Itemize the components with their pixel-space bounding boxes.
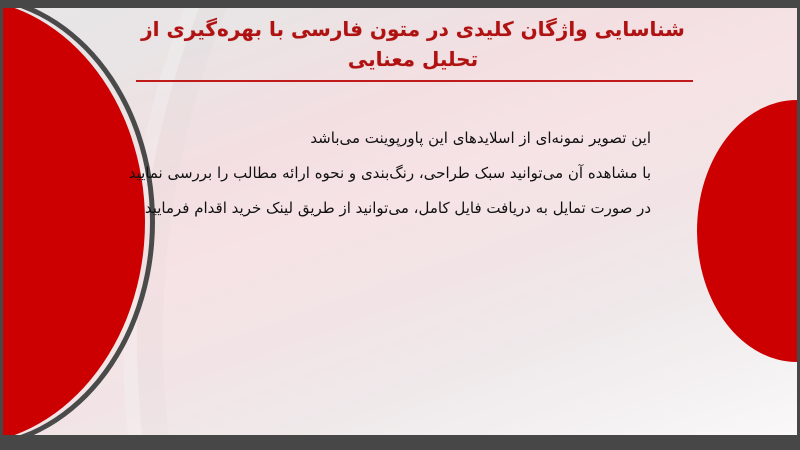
- slide-title-line-2: تحلیل معنایی: [123, 44, 703, 74]
- slide-body-text: این تصویر نمونه‌ای از اسلایدهای این پاور…: [111, 121, 651, 226]
- body-line-3: در صورت تمایل به دریافت فایل کامل، می‌تو…: [111, 191, 651, 226]
- slide-title: شناسایی واژگان کلیدی در متون فارسی با به…: [123, 14, 703, 74]
- slide-title-line-1: شناسایی واژگان کلیدی در متون فارسی با به…: [123, 14, 703, 44]
- presentation-slide: شناسایی واژگان کلیدی در متون فارسی با به…: [0, 0, 800, 450]
- red-oval-right: [697, 100, 797, 362]
- title-underline: [136, 80, 693, 82]
- body-line-2: با مشاهده آن می‌توانید سبک طراحی، رنگ‌بن…: [111, 156, 651, 191]
- slide-canvas: شناسایی واژگان کلیدی در متون فارسی با به…: [3, 8, 797, 435]
- body-line-1: این تصویر نمونه‌ای از اسلایدهای این پاور…: [111, 121, 651, 156]
